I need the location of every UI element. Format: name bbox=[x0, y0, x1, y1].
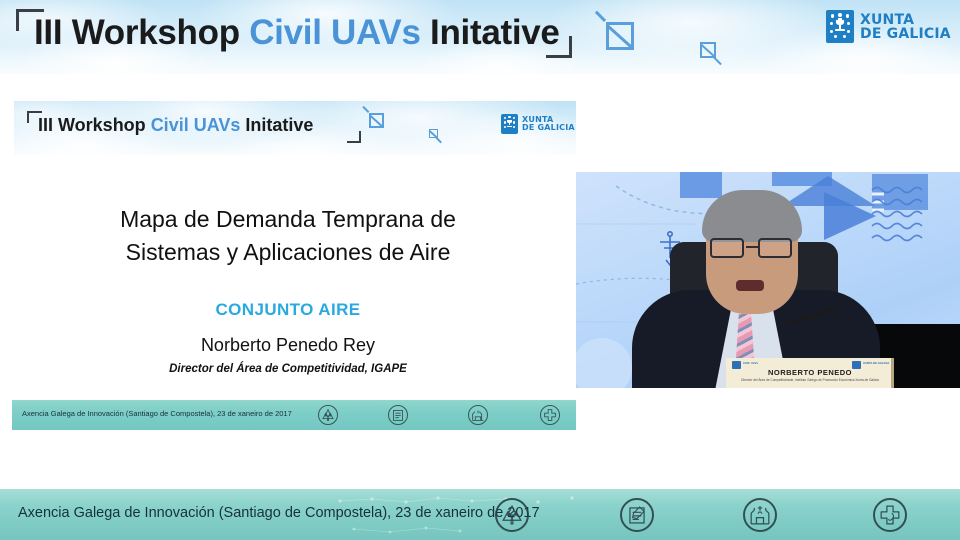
slide-heading: Mapa de Demanda Temprana de Sistemas y A… bbox=[0, 203, 576, 269]
slide-body: Mapa de Demanda Temprana de Sistemas y A… bbox=[0, 155, 576, 400]
slide-footer-text: Axencia Galega de Innovación (Santiago d… bbox=[22, 409, 292, 418]
forest-icon bbox=[318, 405, 338, 425]
slide-banner-title: III Workshop Civil UAVs Initative bbox=[38, 113, 313, 137]
slide-title-pre: III Workshop bbox=[38, 115, 151, 135]
workshop-title: III Workshop Civil UAVs Initative bbox=[34, 12, 560, 54]
document-icon bbox=[620, 498, 654, 532]
presenter-glasses-icon bbox=[710, 238, 796, 258]
slide-heading-line2: Sistemas y Aplicaciones de Aire bbox=[0, 236, 576, 269]
bottom-footer-text: Axencia Galega de Innovación (Santiago d… bbox=[18, 505, 540, 521]
slide-speaker-name: Norberto Penedo Rey bbox=[0, 335, 576, 356]
drone-icon-small bbox=[700, 42, 716, 58]
slide-title-post: Initative bbox=[240, 115, 313, 135]
slide-corner-bracket-bottom-right-icon bbox=[347, 131, 361, 143]
drone-icon-large bbox=[606, 22, 634, 50]
workshop-title-post: Initative bbox=[421, 13, 560, 52]
presentation-viewer: III Workshop Civil UAVs Initative bbox=[0, 0, 960, 540]
slide-footer-bar: Axencia Galega de Innovación (Santiago d… bbox=[12, 400, 576, 430]
slide-banner: III Workshop Civil UAVs Initative bbox=[14, 101, 576, 155]
slide-heading-line1: Mapa de Demanda Temprana de bbox=[0, 203, 576, 236]
slide-xunta-logo: XUNTA DE GALICIA bbox=[501, 114, 575, 134]
slide-title-highlight: Civil UAVs bbox=[151, 115, 241, 135]
slide-drone-icon-small bbox=[429, 129, 438, 138]
monument-icon bbox=[468, 405, 488, 425]
xunta-logo-line1: XUNTA bbox=[860, 13, 951, 27]
nameplate-xunta-label: XUNTA DE GALICIA bbox=[863, 362, 891, 365]
xunta-logo-line2: DE GALICIA bbox=[860, 27, 951, 41]
bottom-footer-bar: Axencia Galega de Innovación (Santiago d… bbox=[0, 489, 960, 540]
xunta-de-galicia-logo: XUNTA DE GALICIA bbox=[826, 10, 951, 43]
slide-xunta-line2: DE GALICIA bbox=[522, 124, 575, 132]
nameplate-subtitle: Director del Área de Competitividade, In… bbox=[726, 378, 894, 382]
presenter-video-feed[interactable]: CIVIL UAVs XUNTA DE GALICIA NORBERTO PEN… bbox=[576, 172, 960, 388]
health-cross-icon bbox=[873, 498, 907, 532]
slide-drone-icon-large bbox=[369, 113, 384, 128]
presenter-mouth bbox=[736, 280, 764, 291]
health-cross-icon bbox=[540, 405, 560, 425]
workshop-title-highlight: Civil UAVs bbox=[249, 13, 420, 52]
nameplate-name: NORBERTO PENEDO bbox=[726, 368, 894, 377]
monument-icon bbox=[743, 498, 777, 532]
slide-content: III Workshop Civil UAVs Initative bbox=[0, 93, 576, 433]
top-banner: III Workshop Civil UAVs Initative bbox=[0, 0, 960, 74]
workshop-title-pre: III Workshop bbox=[34, 13, 249, 52]
forest-icon bbox=[495, 498, 529, 532]
nameplate-civiluavs-label: CIVIL UAVs bbox=[743, 362, 758, 365]
presenter-nameplate: CIVIL UAVs XUNTA DE GALICIA NORBERTO PEN… bbox=[726, 358, 894, 388]
document-icon bbox=[388, 405, 408, 425]
slide-speaker-role: Director del Área de Competitividad, IGA… bbox=[0, 363, 576, 375]
slide-subtitle: CONJUNTO AIRE bbox=[0, 300, 576, 320]
